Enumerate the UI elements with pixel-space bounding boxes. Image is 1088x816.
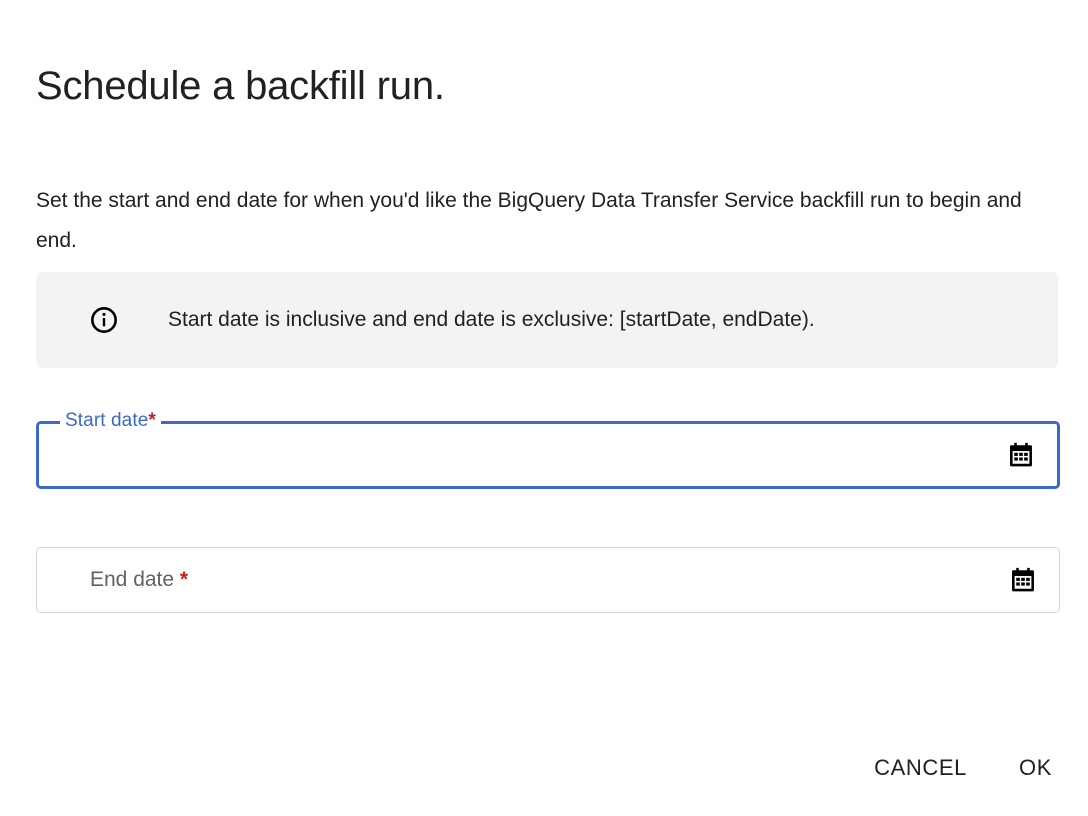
info-banner: Start date is inclusive and end date is … [36, 272, 1058, 368]
end-date-input[interactable] [37, 548, 1008, 612]
start-date-calendar-icon-button[interactable] [1006, 440, 1036, 470]
start-date-label: Start date* [60, 409, 161, 433]
start-date-field[interactable]: Start date* [36, 421, 1060, 489]
end-date-calendar-icon-button[interactable] [1008, 565, 1038, 595]
start-date-input[interactable] [39, 424, 1006, 486]
ok-button[interactable]: OK [1013, 748, 1058, 788]
info-banner-text: Start date is inclusive and end date is … [168, 306, 815, 334]
required-asterisk: * [148, 410, 156, 431]
calendar-icon [1009, 566, 1037, 594]
dialog-description: Set the start and end date for when you'… [36, 181, 1054, 261]
calendar-icon [1007, 441, 1035, 469]
start-date-label-text: Start date [65, 410, 148, 431]
end-date-field[interactable]: End date * [36, 547, 1060, 613]
schedule-backfill-dialog: Schedule a backfill run. Set the start a… [0, 0, 1088, 816]
cancel-button[interactable]: CANCEL [868, 748, 973, 788]
info-icon [90, 306, 118, 334]
dialog-title: Schedule a backfill run. [36, 61, 445, 111]
dialog-actions: CANCEL OK [868, 748, 1058, 788]
